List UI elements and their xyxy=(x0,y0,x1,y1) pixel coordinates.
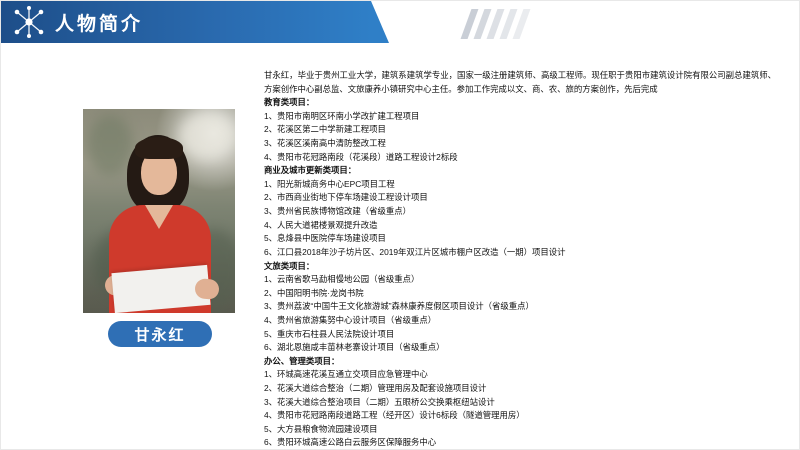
list-item: 6、贵阳环城高速公路白云服务区保障服务中心 xyxy=(264,436,776,450)
list-item: 1、环城高速花溪互通立交项目应急管理中心 xyxy=(264,368,776,382)
section-title-commercial: 商业及城市更新类项目： xyxy=(264,164,776,178)
list-item: 5、息烽县中医院停车场建设项目 xyxy=(264,232,776,246)
molecule-node-icon xyxy=(11,4,47,40)
list-item: 3、花溪区溪南高中清防整改工程 xyxy=(264,137,776,151)
list-item: 2、市西商业街地下停车场建设工程设计项目 xyxy=(264,191,776,205)
list-item: 4、贵州省旅游集努中心设计项目（省级重点） xyxy=(264,314,776,328)
page-title: 人物简介 xyxy=(55,9,143,36)
slide-canvas: 人物简介 甘永红 甘永红，毕业于贵州工业大学，建筑系建筑学专业，国家一级注册建筑… xyxy=(0,0,800,450)
section-title-education: 教育类项目： xyxy=(264,96,776,110)
section-title-tourism: 文旅类项目： xyxy=(264,260,776,274)
list-item: 6、江口县2018年沙子坊片区、2019年双江片区城市棚户区改造（一期）项目设计 xyxy=(264,246,776,260)
list-item: 1、阳光新城商务中心EPC项目工程 xyxy=(264,178,776,192)
list-item: 3、贵州荔波“中国牛王文化旅游城”森林康养度假区项目设计（省级重点） xyxy=(264,300,776,314)
list-item: 4、贵阳市花冠路南段道路工程（经开区）设计6标段（隧道管理用房） xyxy=(264,409,776,423)
name-badge: 甘永红 xyxy=(108,321,212,347)
list-item: 1、云南省歌马勐相慢地公园（省级重点） xyxy=(264,273,776,287)
list-item: 2、花溪大道综合整治（二期）管理用房及配套设施项目设计 xyxy=(264,382,776,396)
decorative-slashes xyxy=(466,9,556,39)
list-item: 4、人民大道裙楼景观提升改造 xyxy=(264,219,776,233)
list-item: 3、花溪大道综合整治项目（二期）五眼桥公交换乘枢纽站设计 xyxy=(264,396,776,410)
list-item: 1、贵阳市南明区环南小学改扩建工程项目 xyxy=(264,110,776,124)
list-item: 4、贵阳市花冠路南段（花溪段）道路工程设计2标段 xyxy=(264,151,776,165)
portrait-photo xyxy=(83,109,235,313)
intro-paragraph: 甘永红，毕业于贵州工业大学，建筑系建筑学专业，国家一级注册建筑师、高级工程师。现… xyxy=(264,69,776,96)
list-item: 2、中国阳明书院·龙岗书院 xyxy=(264,287,776,301)
list-item: 3、贵州省民族博物馆改建（省级重点） xyxy=(264,205,776,219)
section-title-office: 办公、管理类项目： xyxy=(264,355,776,369)
list-item: 6、湖北恩施咸丰苗林老寨设计项目（省级重点） xyxy=(264,341,776,355)
header-bar: 人物简介 xyxy=(1,1,371,43)
profile-content: 甘永红，毕业于贵州工业大学，建筑系建筑学专业，国家一级注册建筑师、高级工程师。现… xyxy=(264,69,776,450)
list-item: 2、花溪区第二中学新建工程项目 xyxy=(264,123,776,137)
list-item: 5、大方县粮食物流园建设项目 xyxy=(264,423,776,437)
list-item: 5、重庆市石柱县人民法院设计项目 xyxy=(264,328,776,342)
